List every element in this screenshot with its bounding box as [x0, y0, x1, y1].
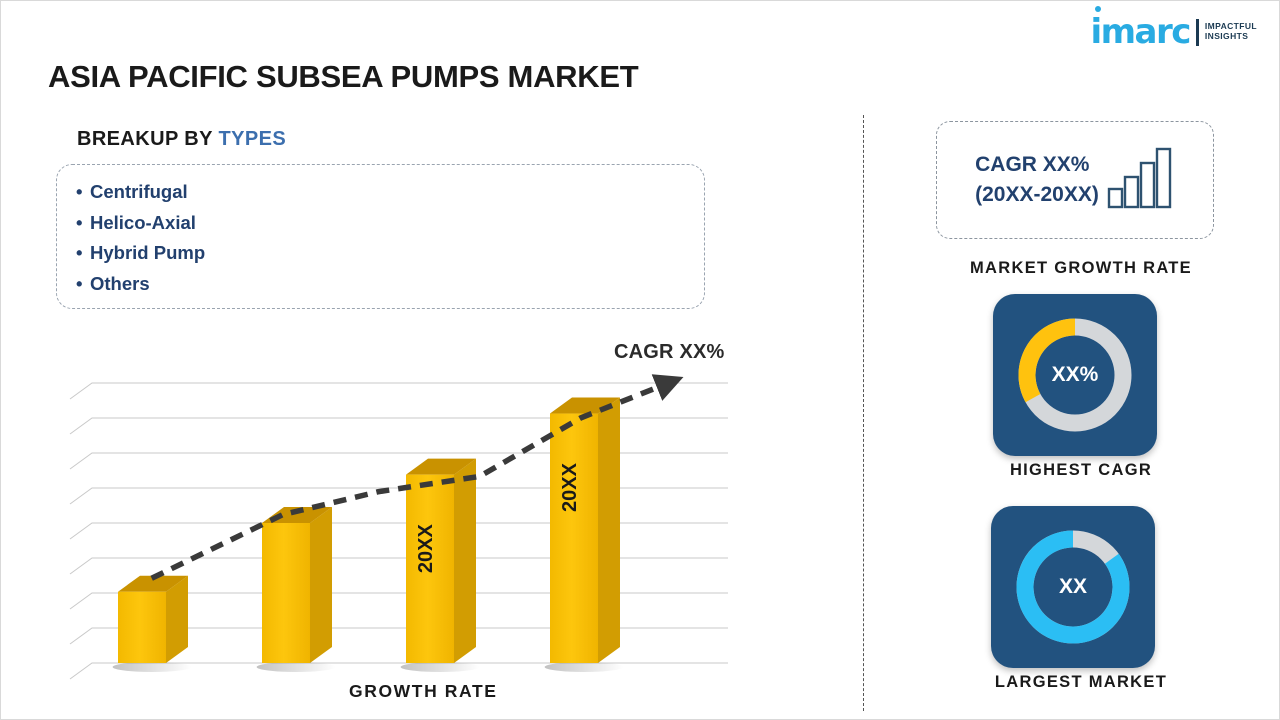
chart-cagr-label: CAGR XX% [614, 341, 725, 364]
cagr-summary-line2: (20XX-20XX) [975, 180, 1099, 210]
caption-largest-market: LARGEST MARKET [901, 673, 1261, 692]
chart-svg: 20XX20XX [56, 331, 756, 711]
logo-wordmark: imarc [1090, 15, 1189, 49]
list-item-label: Others [90, 273, 150, 294]
logo-tagline: IMPACTFUL INSIGHTS [1205, 22, 1257, 42]
gridline [70, 558, 728, 574]
breakup-heading: BREAKUP BY TYPES [77, 128, 286, 151]
gridline [70, 453, 728, 469]
list-item-label: Helico-Axial [90, 212, 196, 233]
card-highest-cagr: XX% [993, 294, 1157, 456]
list-item: •Centrifugal [76, 177, 704, 208]
donut-value-highest-cagr: XX% [1011, 311, 1139, 439]
types-list: •Centrifugal •Helico-Axial •Hybrid Pump … [76, 177, 704, 299]
donut-chart-largest-market: XX [1009, 523, 1137, 651]
list-item-label: Centrifugal [90, 181, 188, 202]
bar-label: 20XX [559, 462, 581, 512]
cagr-summary-box: CAGR XX% (20XX-20XX) [936, 121, 1214, 239]
bar-column [113, 576, 192, 672]
bullet-icon: • [76, 208, 90, 239]
bar-column: 20XX [401, 459, 480, 672]
list-item: •Hybrid Pump [76, 238, 704, 269]
chart-x-axis-label: GROWTH RATE [349, 681, 498, 702]
types-list-box: •Centrifugal •Helico-Axial •Hybrid Pump … [56, 164, 705, 309]
bar-chart-icon [1107, 147, 1175, 214]
caption-market-growth-rate: MARKET GROWTH RATE [901, 259, 1261, 278]
logo-tagline-line2: INSIGHTS [1205, 32, 1257, 42]
cagr-summary-text: CAGR XX% (20XX-20XX) [975, 150, 1099, 210]
list-item: •Helico-Axial [76, 208, 704, 239]
bullet-icon: • [76, 177, 90, 208]
breakup-heading-prefix: BREAKUP BY [77, 128, 218, 150]
donut-value-largest-market: XX [1009, 523, 1137, 651]
gridline [70, 418, 728, 434]
breakup-heading-accent: TYPES [218, 128, 286, 150]
bullet-icon: • [76, 238, 90, 269]
right-panel: CAGR XX% (20XX-20XX) MARKET GROWTH RATE [901, 111, 1261, 711]
cagr-summary-line1: CAGR XX% [975, 150, 1099, 180]
bar-column: 20XX [545, 398, 624, 672]
gridline [70, 523, 728, 539]
logo-divider-bar [1196, 19, 1199, 46]
page-title: ASIA PACIFIC SUBSEA PUMPS MARKET [48, 59, 638, 95]
growth-bar-chart: 20XX20XX [56, 331, 756, 711]
list-item-label: Hybrid Pump [90, 242, 205, 263]
vertical-divider [863, 115, 864, 711]
bar-label: 20XX [415, 524, 437, 574]
caption-highest-cagr: HIGHEST CAGR [901, 461, 1261, 480]
slide-canvas: imarc IMPACTFUL INSIGHTS ASIA PACIFIC SU… [0, 0, 1280, 720]
card-largest-market: XX [991, 506, 1155, 668]
donut-chart-highest-cagr: XX% [1011, 311, 1139, 439]
bar-column [257, 507, 336, 672]
list-item: •Others [76, 269, 704, 300]
imarc-logo: imarc IMPACTFUL INSIGHTS [1090, 15, 1257, 49]
bullet-icon: • [76, 269, 90, 300]
